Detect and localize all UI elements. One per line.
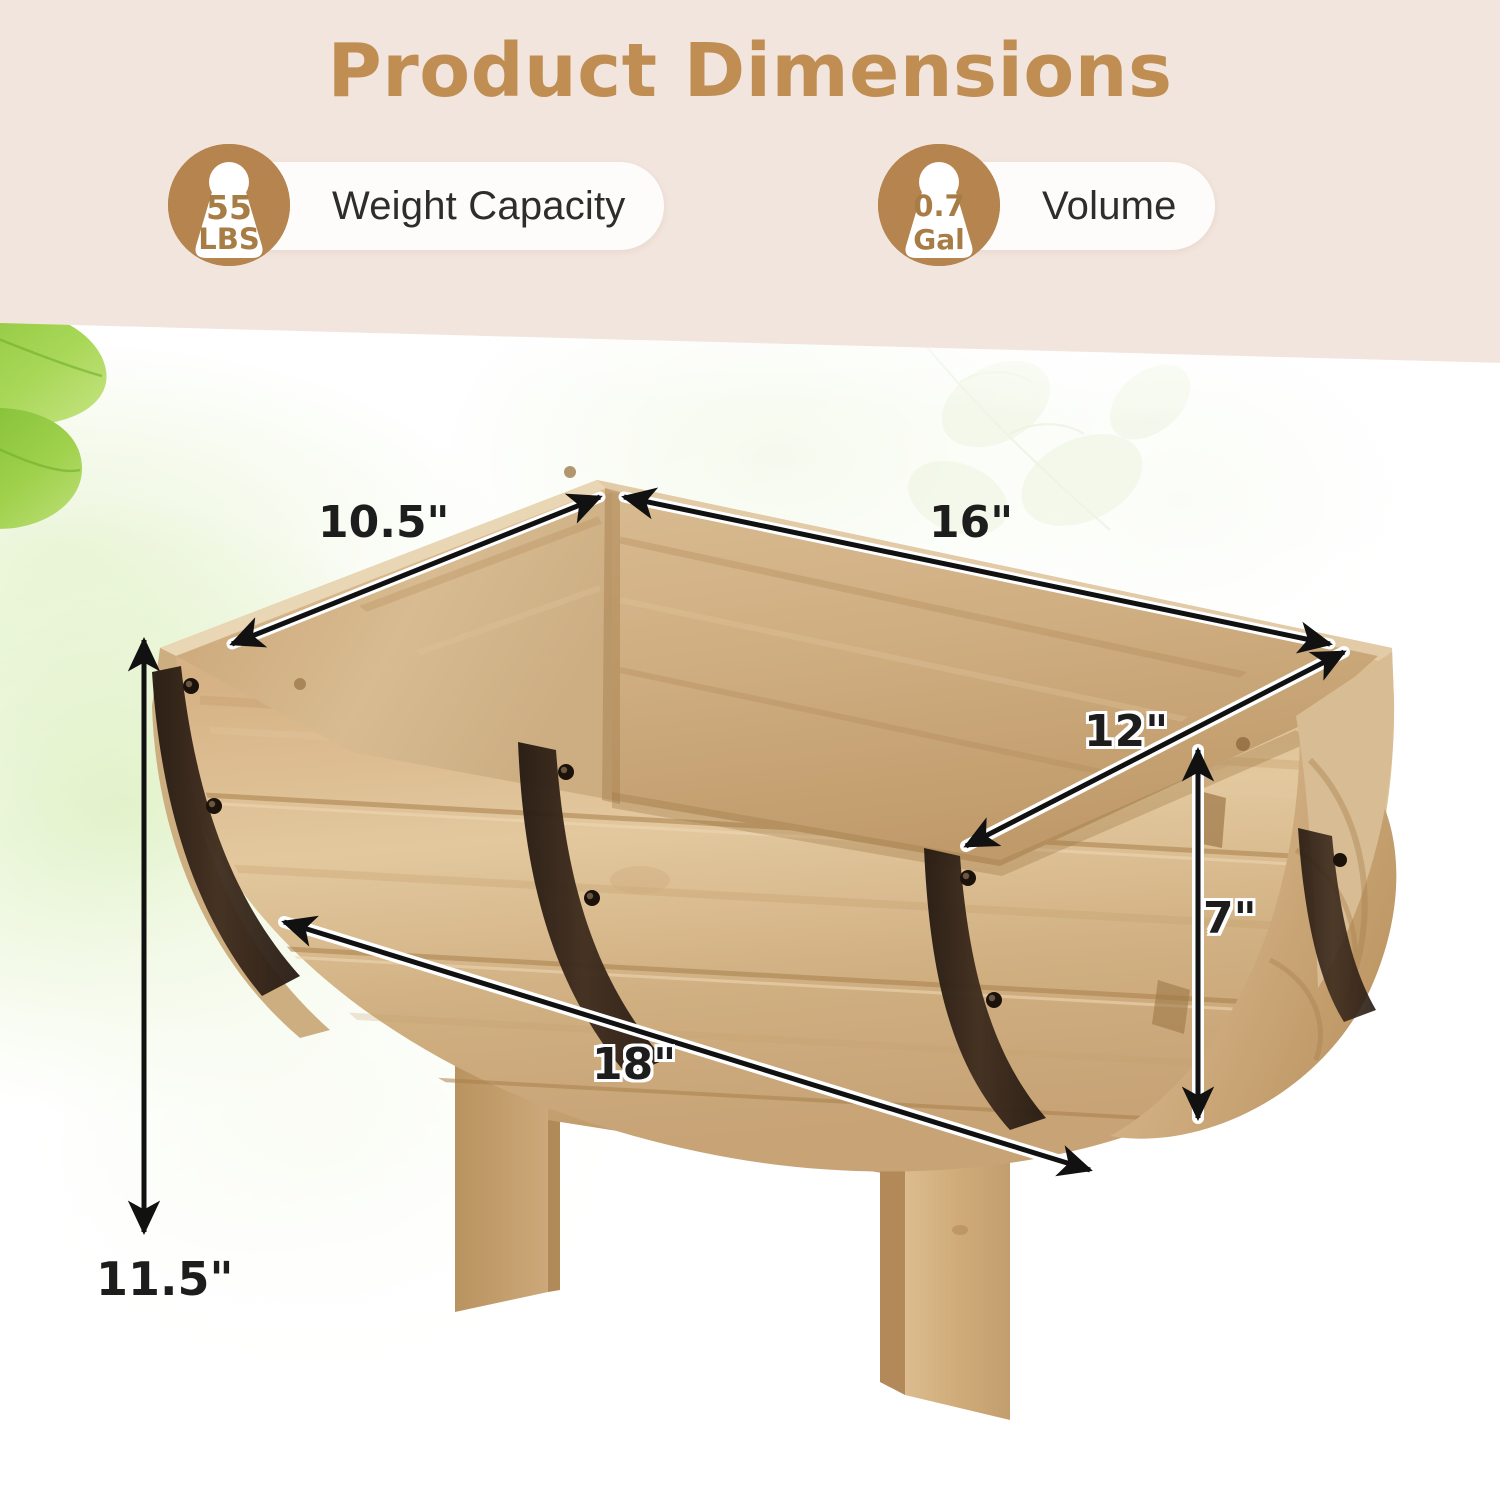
dimension-label-11-5: 11.5" — [96, 1252, 233, 1306]
dimension-label-10-5: 10.5" — [318, 497, 449, 548]
badge-weight-capacity-label: Weight Capacity — [332, 184, 626, 229]
badge-volume-label: Volume — [1042, 184, 1177, 229]
dimension-label-18: 18" — [592, 1039, 676, 1090]
volume-kettlebell-icon: 0.7 Gal — [878, 144, 1000, 266]
dimension-label-7: 7" — [1203, 893, 1257, 944]
page-title: Product Dimensions — [0, 28, 1500, 114]
dimension-label-16: 16" — [929, 497, 1013, 548]
weight-kettlebell-icon: 55 LBS — [168, 144, 290, 266]
infographic-canvas: 10.5" 16" 12" 7" 18" 11.5" Product Dimen… — [0, 0, 1500, 1500]
dimension-label-12: 12" — [1084, 706, 1168, 757]
